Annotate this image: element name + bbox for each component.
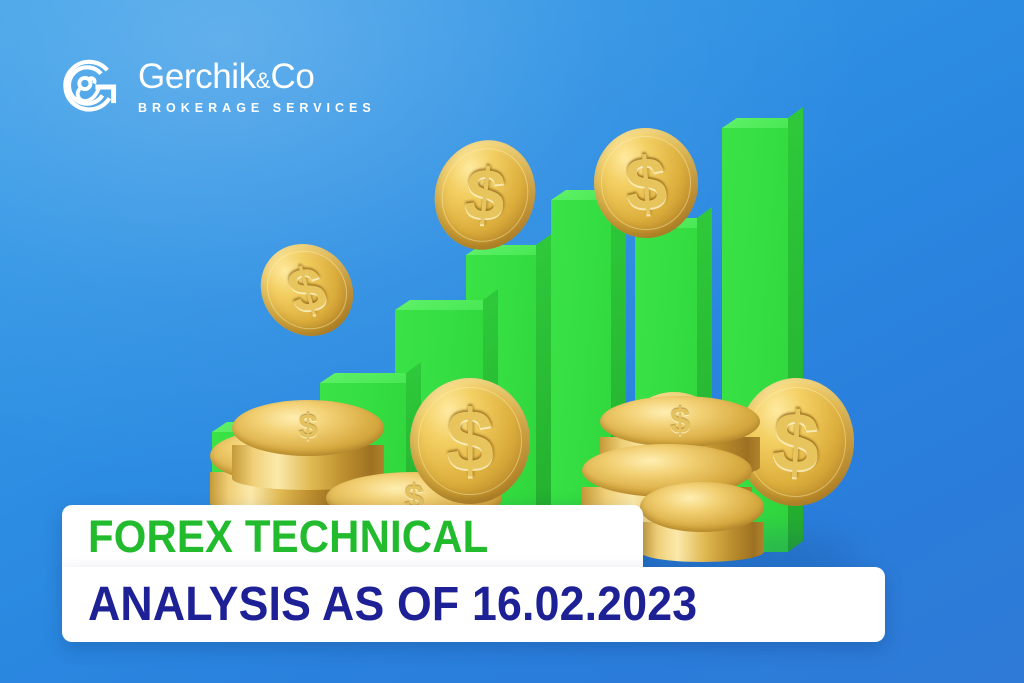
page-title-line-2: ANALYSIS AS OF 16.02.2023 (88, 581, 697, 629)
coin-float-mid-icon: $ (429, 138, 540, 253)
title-banner-primary: FOREX TECHNICAL (62, 505, 643, 567)
coin-center-large-icon: $ (410, 378, 530, 504)
poster-canvas: $ $ $ $ $ $ $ $ (0, 0, 1024, 683)
page-title-line-1: FOREX TECHNICAL (88, 514, 488, 559)
coin-stack-right-base (640, 482, 764, 562)
title-banner-secondary: ANALYSIS AS OF 16.02.2023 (62, 567, 885, 642)
coin-float-left-icon: $ (250, 236, 365, 344)
coin-float-right-icon: $ (590, 125, 701, 242)
